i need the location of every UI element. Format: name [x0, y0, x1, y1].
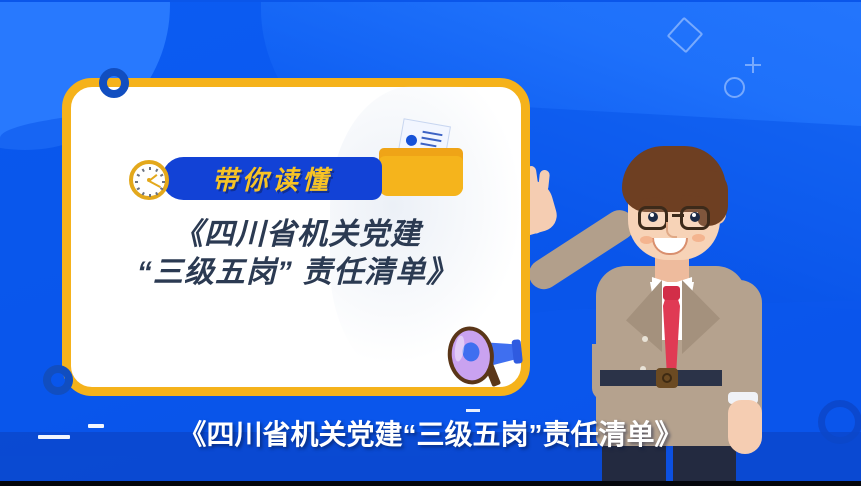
- page-title-line-2: “三级五岗” 责任清单》: [72, 254, 522, 292]
- eye-left: [648, 212, 658, 222]
- top-strip: [0, 0, 861, 2]
- folder-front: [379, 156, 463, 196]
- corner-ring-icon: [43, 365, 73, 395]
- folder-document-icon: [375, 122, 467, 200]
- page-title: 《四川省机关党建 “三级五岗” 责任清单》: [72, 216, 522, 292]
- caption-text: 《四川省机关党建“三级五岗”责任清单》: [0, 413, 861, 453]
- eye-right: [690, 212, 700, 222]
- page-title-line-1: 《四川省机关党建: [72, 216, 522, 254]
- megaphone-icon: [444, 313, 543, 398]
- clock-icon: [129, 160, 169, 200]
- letterbox-strip: [0, 481, 861, 486]
- headline-banner-label: 带你读懂: [212, 160, 332, 197]
- glasses-bridge: [672, 214, 684, 217]
- belt-buckle: [656, 368, 678, 388]
- video-frame: 带你读懂 《四川省机关党建 “三级五岗” 责任清单》 《四川省机关党建“三级五岗…: [0, 0, 861, 486]
- document-text-line: [422, 137, 442, 142]
- cheek-right: [692, 234, 705, 242]
- cheek-left: [640, 236, 653, 244]
- necktie-knot: [663, 286, 680, 300]
- cross-icon: [745, 57, 761, 73]
- caption-tick: [466, 409, 480, 412]
- document-text-line: [420, 143, 436, 147]
- nose: [666, 222, 677, 238]
- circle-outline-icon: [724, 77, 745, 98]
- document-avatar-dot: [405, 134, 418, 147]
- headline-banner: 带你读懂: [162, 157, 382, 200]
- corner-ring-icon: [99, 68, 129, 98]
- megaphone-ring: [511, 339, 522, 364]
- document-text-line: [423, 131, 443, 136]
- clock-center-pin: [147, 178, 151, 182]
- jacket-button: [642, 336, 648, 342]
